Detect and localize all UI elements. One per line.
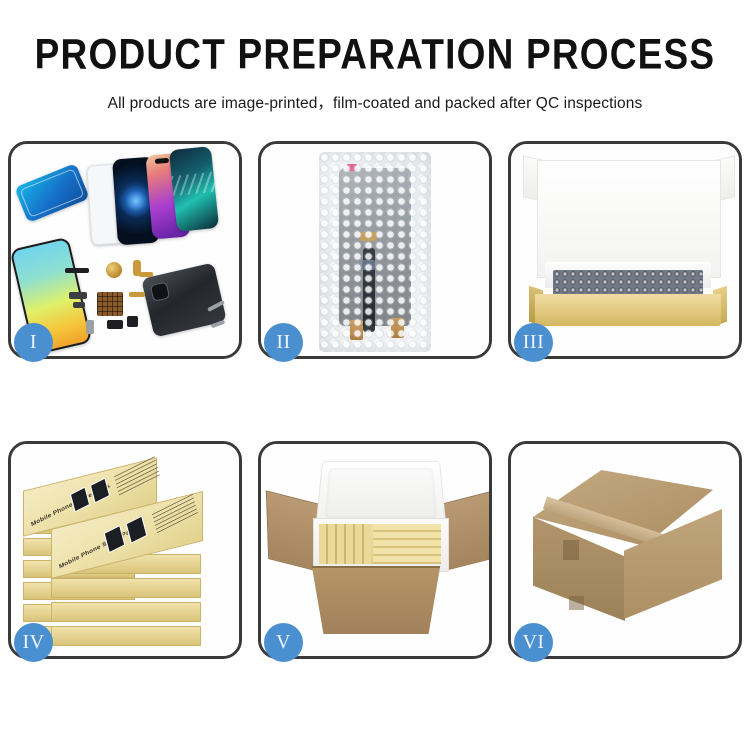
step-2-image: [261, 144, 489, 356]
kraft-box-front: [535, 294, 721, 326]
box-window-image: [126, 516, 148, 544]
page-header: PRODUCT PREPARATION PROCESS All products…: [0, 0, 750, 113]
teal-phone-part: [169, 146, 219, 232]
stacked-box: [51, 602, 201, 622]
adhesive-frame-part: [14, 163, 89, 223]
process-step-panel-4[interactable]: Mobile Phone Spare Parts Mobile Phone Sp…: [8, 441, 242, 659]
process-step-panel-2[interactable]: II: [258, 141, 492, 359]
step-1-image: [11, 144, 239, 356]
chip-board-part: [97, 292, 123, 316]
small-part: [65, 268, 89, 273]
phone-parts-scene: [11, 144, 239, 356]
small-part: [139, 272, 153, 277]
step-badge-1: I: [14, 323, 53, 362]
box-window-image: [70, 487, 90, 513]
step-5-image: [261, 444, 489, 656]
carton-handle-notch: [569, 596, 584, 610]
box-window-image: [90, 478, 110, 504]
bubble-wrap-bag: [319, 152, 431, 352]
white-inner-lid: [537, 160, 721, 278]
small-part: [127, 316, 138, 327]
step-badge-6: VI: [514, 623, 553, 662]
stacked-box: [51, 626, 201, 646]
step-badge-3: III: [514, 323, 553, 362]
process-step-panel-1[interactable]: I: [8, 141, 242, 359]
bubble-texture: [319, 152, 431, 352]
carton-handle-notch: [563, 540, 579, 560]
carton-front-panel: [303, 566, 449, 634]
packed-kraft-boxes: [319, 524, 441, 564]
stacked-box: [51, 578, 201, 598]
step-badge-4: IV: [14, 623, 53, 662]
page-title: PRODUCT PREPARATION PROCESS: [0, 32, 750, 78]
process-step-panel-6[interactable]: VI: [508, 441, 742, 659]
small-part: [73, 302, 85, 308]
small-part: [86, 320, 94, 334]
step-badge-5: V: [264, 623, 303, 662]
box-stack: Mobile Phone Spare Parts Mobile Phone Sp…: [19, 458, 237, 654]
box-window-image: [104, 525, 126, 553]
small-part: [69, 292, 87, 299]
step-badge-2: II: [264, 323, 303, 362]
speaker-coil-part: [106, 262, 122, 278]
box-spec-lines: [152, 494, 198, 534]
box-spec-lines: [114, 456, 160, 496]
step-3-image: [511, 144, 739, 356]
small-part: [107, 320, 123, 329]
page-subtitle: All products are image-printed，film-coat…: [0, 91, 750, 113]
process-step-panel-5[interactable]: V: [258, 441, 492, 659]
step-6-image: [511, 444, 739, 656]
step-4-image: Mobile Phone Spare Parts Mobile Phone Sp…: [11, 444, 239, 656]
process-steps-grid: I II III: [8, 141, 742, 659]
foam-lid: [316, 461, 447, 527]
process-step-panel-3[interactable]: III: [508, 141, 742, 359]
small-part: [129, 292, 145, 297]
